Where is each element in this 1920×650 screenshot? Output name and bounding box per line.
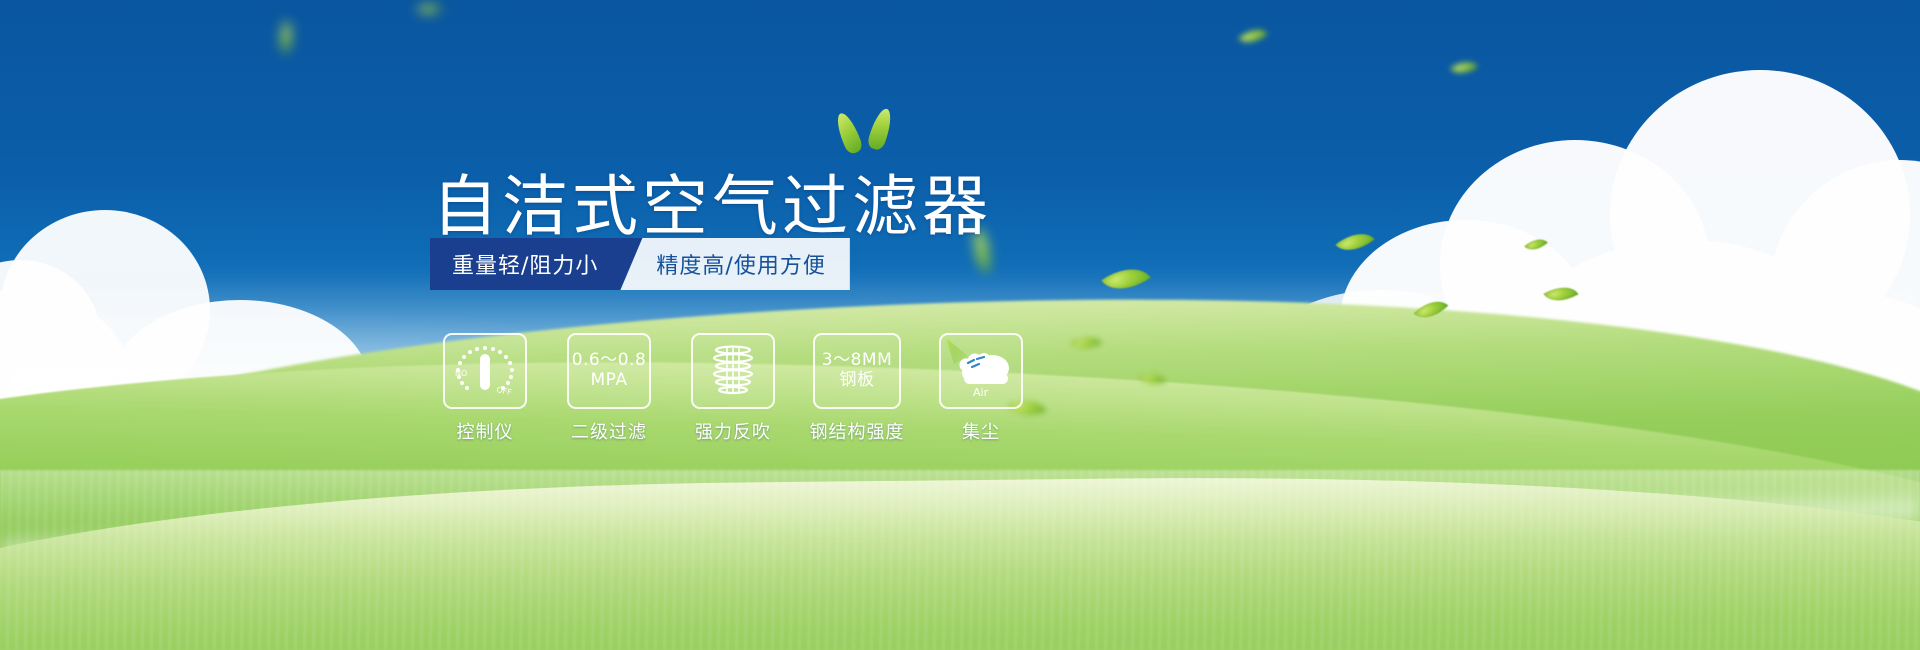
sprout-leaves-icon — [836, 106, 896, 154]
feature-item-controller[interactable]: NO OFF 控制仪 — [438, 333, 532, 444]
feature-caption: 控制仪 — [457, 418, 514, 444]
banner-content: 自洁式空气过滤器 重量轻/阻力小 精度高/使用方便 — [0, 0, 1920, 650]
steel-plate-text-icon: 3～8MM 钢板 — [822, 351, 892, 390]
hero-banner: 自洁式空气过滤器 重量轻/阻力小 精度高/使用方便 — [0, 0, 1920, 650]
banner-title: 自洁式空气过滤器 — [432, 174, 992, 240]
sprout-leaf-right-icon — [866, 106, 895, 151]
tagline-tabs: 重量轻/阻力小 精度高/使用方便 — [430, 238, 850, 290]
feature-item-dust[interactable]: Air 集尘 — [934, 333, 1028, 444]
pressure-unit: MPA — [572, 371, 647, 391]
gauge-icon: NO OFF — [450, 340, 520, 402]
feature-caption: 集尘 — [962, 418, 1000, 444]
tagline-tab-primary[interactable]: 重量轻/阻力小 — [430, 238, 642, 290]
gauge-label-off: OFF — [496, 385, 513, 397]
air-cloud-icon: Air — [946, 340, 1016, 402]
tagline-tab-secondary[interactable]: 精度高/使用方便 — [620, 238, 849, 290]
feature-icon-box: 3～8MM 钢板 — [813, 333, 901, 409]
feature-icon-box: Air — [939, 333, 1023, 409]
coil-filter-icon — [698, 340, 768, 402]
feature-item-backblow[interactable]: 强力反吹 — [686, 333, 780, 444]
sprout-leaf-left-icon — [833, 110, 864, 155]
pressure-text-icon: 0.6～0.8 MPA — [572, 351, 647, 390]
feature-item-filtration[interactable]: 0.6～0.8 MPA 二级过滤 — [562, 333, 656, 444]
steel-material: 钢板 — [822, 371, 892, 391]
pressure-range: 0.6～0.8 — [572, 351, 647, 371]
feature-caption: 二级过滤 — [571, 418, 647, 444]
feature-list: NO OFF 控制仪 0.6～0.8 MPA 二级过滤 — [438, 333, 1028, 444]
air-label: Air — [973, 386, 989, 399]
feature-caption: 钢结构强度 — [810, 418, 905, 444]
feature-icon-box: 0.6～0.8 MPA — [567, 333, 651, 409]
feature-icon-box: NO OFF — [443, 333, 527, 409]
feature-caption: 强力反吹 — [695, 418, 771, 444]
gauge-label-no: NO — [455, 369, 467, 378]
feature-icon-box — [691, 333, 775, 409]
steel-thickness: 3～8MM — [822, 351, 892, 371]
feature-item-steel[interactable]: 3～8MM 钢板 钢结构强度 — [810, 333, 904, 444]
